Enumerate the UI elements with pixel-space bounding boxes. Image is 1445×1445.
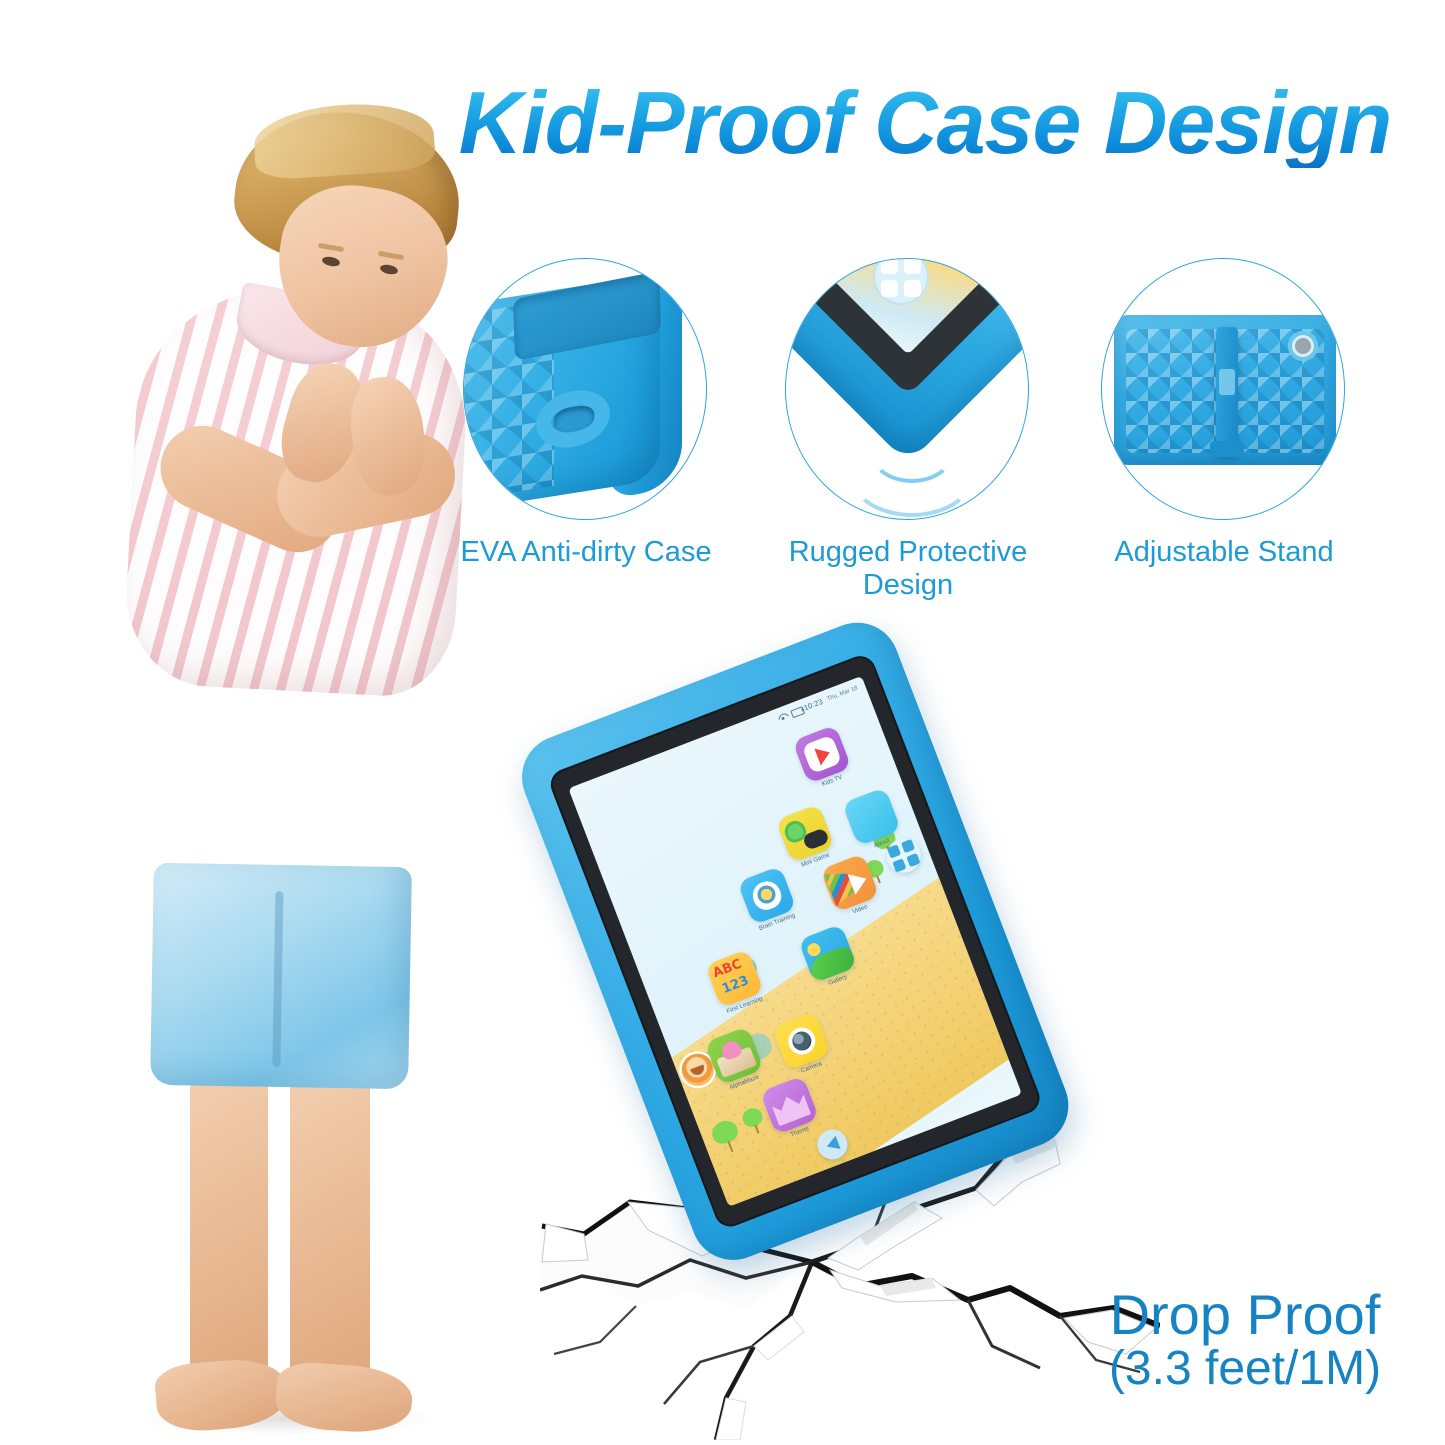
- camera-cutout-icon: [1288, 331, 1318, 361]
- brand-embossing: ····: [1242, 333, 1258, 343]
- feature-adjustable-stand: ···· Adjustable Stand: [1093, 258, 1355, 524]
- shorts: [150, 863, 412, 1089]
- app-mini-game[interactable]: Mini Game: [776, 804, 839, 872]
- wifi-icon: [776, 711, 787, 722]
- eva-case-corner-photo: [463, 258, 707, 520]
- boy-photo: [40, 95, 470, 1425]
- drop-proof-title: Drop Proof: [1060, 1286, 1430, 1344]
- app-brain-training[interactable]: Brain Training: [737, 866, 800, 934]
- status-time: 10:23: [802, 697, 824, 712]
- feature-label: Rugged Protective Design: [763, 536, 1053, 603]
- leg-right: [290, 1057, 370, 1387]
- feature-label: EVA Anti-dirty Case: [455, 536, 717, 569]
- app-kids-tv[interactable]: Kids TV: [792, 725, 855, 793]
- status-date: Thu, Mar 18: [826, 685, 858, 702]
- drop-proof-caption: Drop Proof (3.3 feet/1M): [1060, 1286, 1430, 1394]
- kickstand: [1216, 327, 1238, 455]
- feature-rugged-protective-design: Rugged Protective Design: [777, 258, 1039, 524]
- shock-wave-icon: [806, 445, 1018, 520]
- product-marketing-image: Kid-Proof Case Design: [0, 0, 1445, 1445]
- rugged-corner-shock-photo: [785, 258, 1029, 520]
- battery-icon: [790, 706, 801, 717]
- feature-label: Adjustable Stand: [1079, 536, 1369, 569]
- status-bar: 10:23 Thu, Mar 18: [776, 683, 859, 722]
- hair-fringe: [252, 99, 436, 181]
- leg-left: [190, 1057, 268, 1387]
- feature-eva-anti-dirty-case: EVA Anti-dirty Case: [455, 258, 717, 524]
- app-drawer-icon: [873, 258, 929, 305]
- page-title: Kid-Proof Case Design: [455, 78, 1395, 168]
- drop-proof-subtitle: (3.3 feet/1M): [1060, 1344, 1430, 1394]
- feature-list: EVA Anti-dirty Case Rugged Protective De…: [455, 258, 1395, 528]
- case-back-kickstand-photo: ····: [1101, 258, 1345, 520]
- kickstand-foot: [1210, 441, 1244, 457]
